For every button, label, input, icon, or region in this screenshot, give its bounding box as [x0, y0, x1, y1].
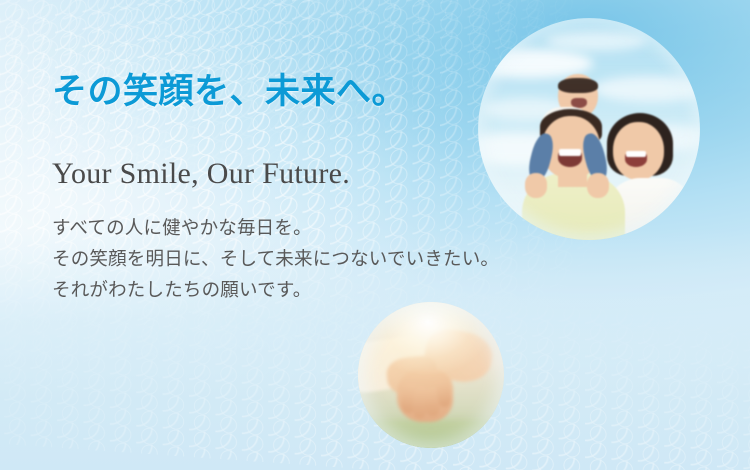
copy-block: その笑顔を、未来へ。 Your Smile, Our Future. すべての人… — [52, 72, 612, 306]
hands-photo-edge-fade — [358, 302, 504, 448]
lead-line: それがわたしたちの願いです。 — [52, 275, 612, 306]
tagline-english: Your Smile, Our Future. — [52, 112, 612, 191]
lead-paragraph: すべての人に健やかな毎日を。 その笑顔を明日に、そして未来につないでいきたい。 … — [52, 191, 612, 306]
lead-line: すべての人に健やかな毎日を。 — [52, 213, 612, 244]
headline-japanese: その笑顔を、未来へ。 — [52, 72, 612, 112]
holding-hands-photo — [358, 302, 504, 448]
lead-line: その笑顔を明日に、そして未来につないでいきたい。 — [52, 244, 612, 275]
hero-banner: その笑顔を、未来へ。 Your Smile, Our Future. すべての人… — [0, 0, 750, 470]
